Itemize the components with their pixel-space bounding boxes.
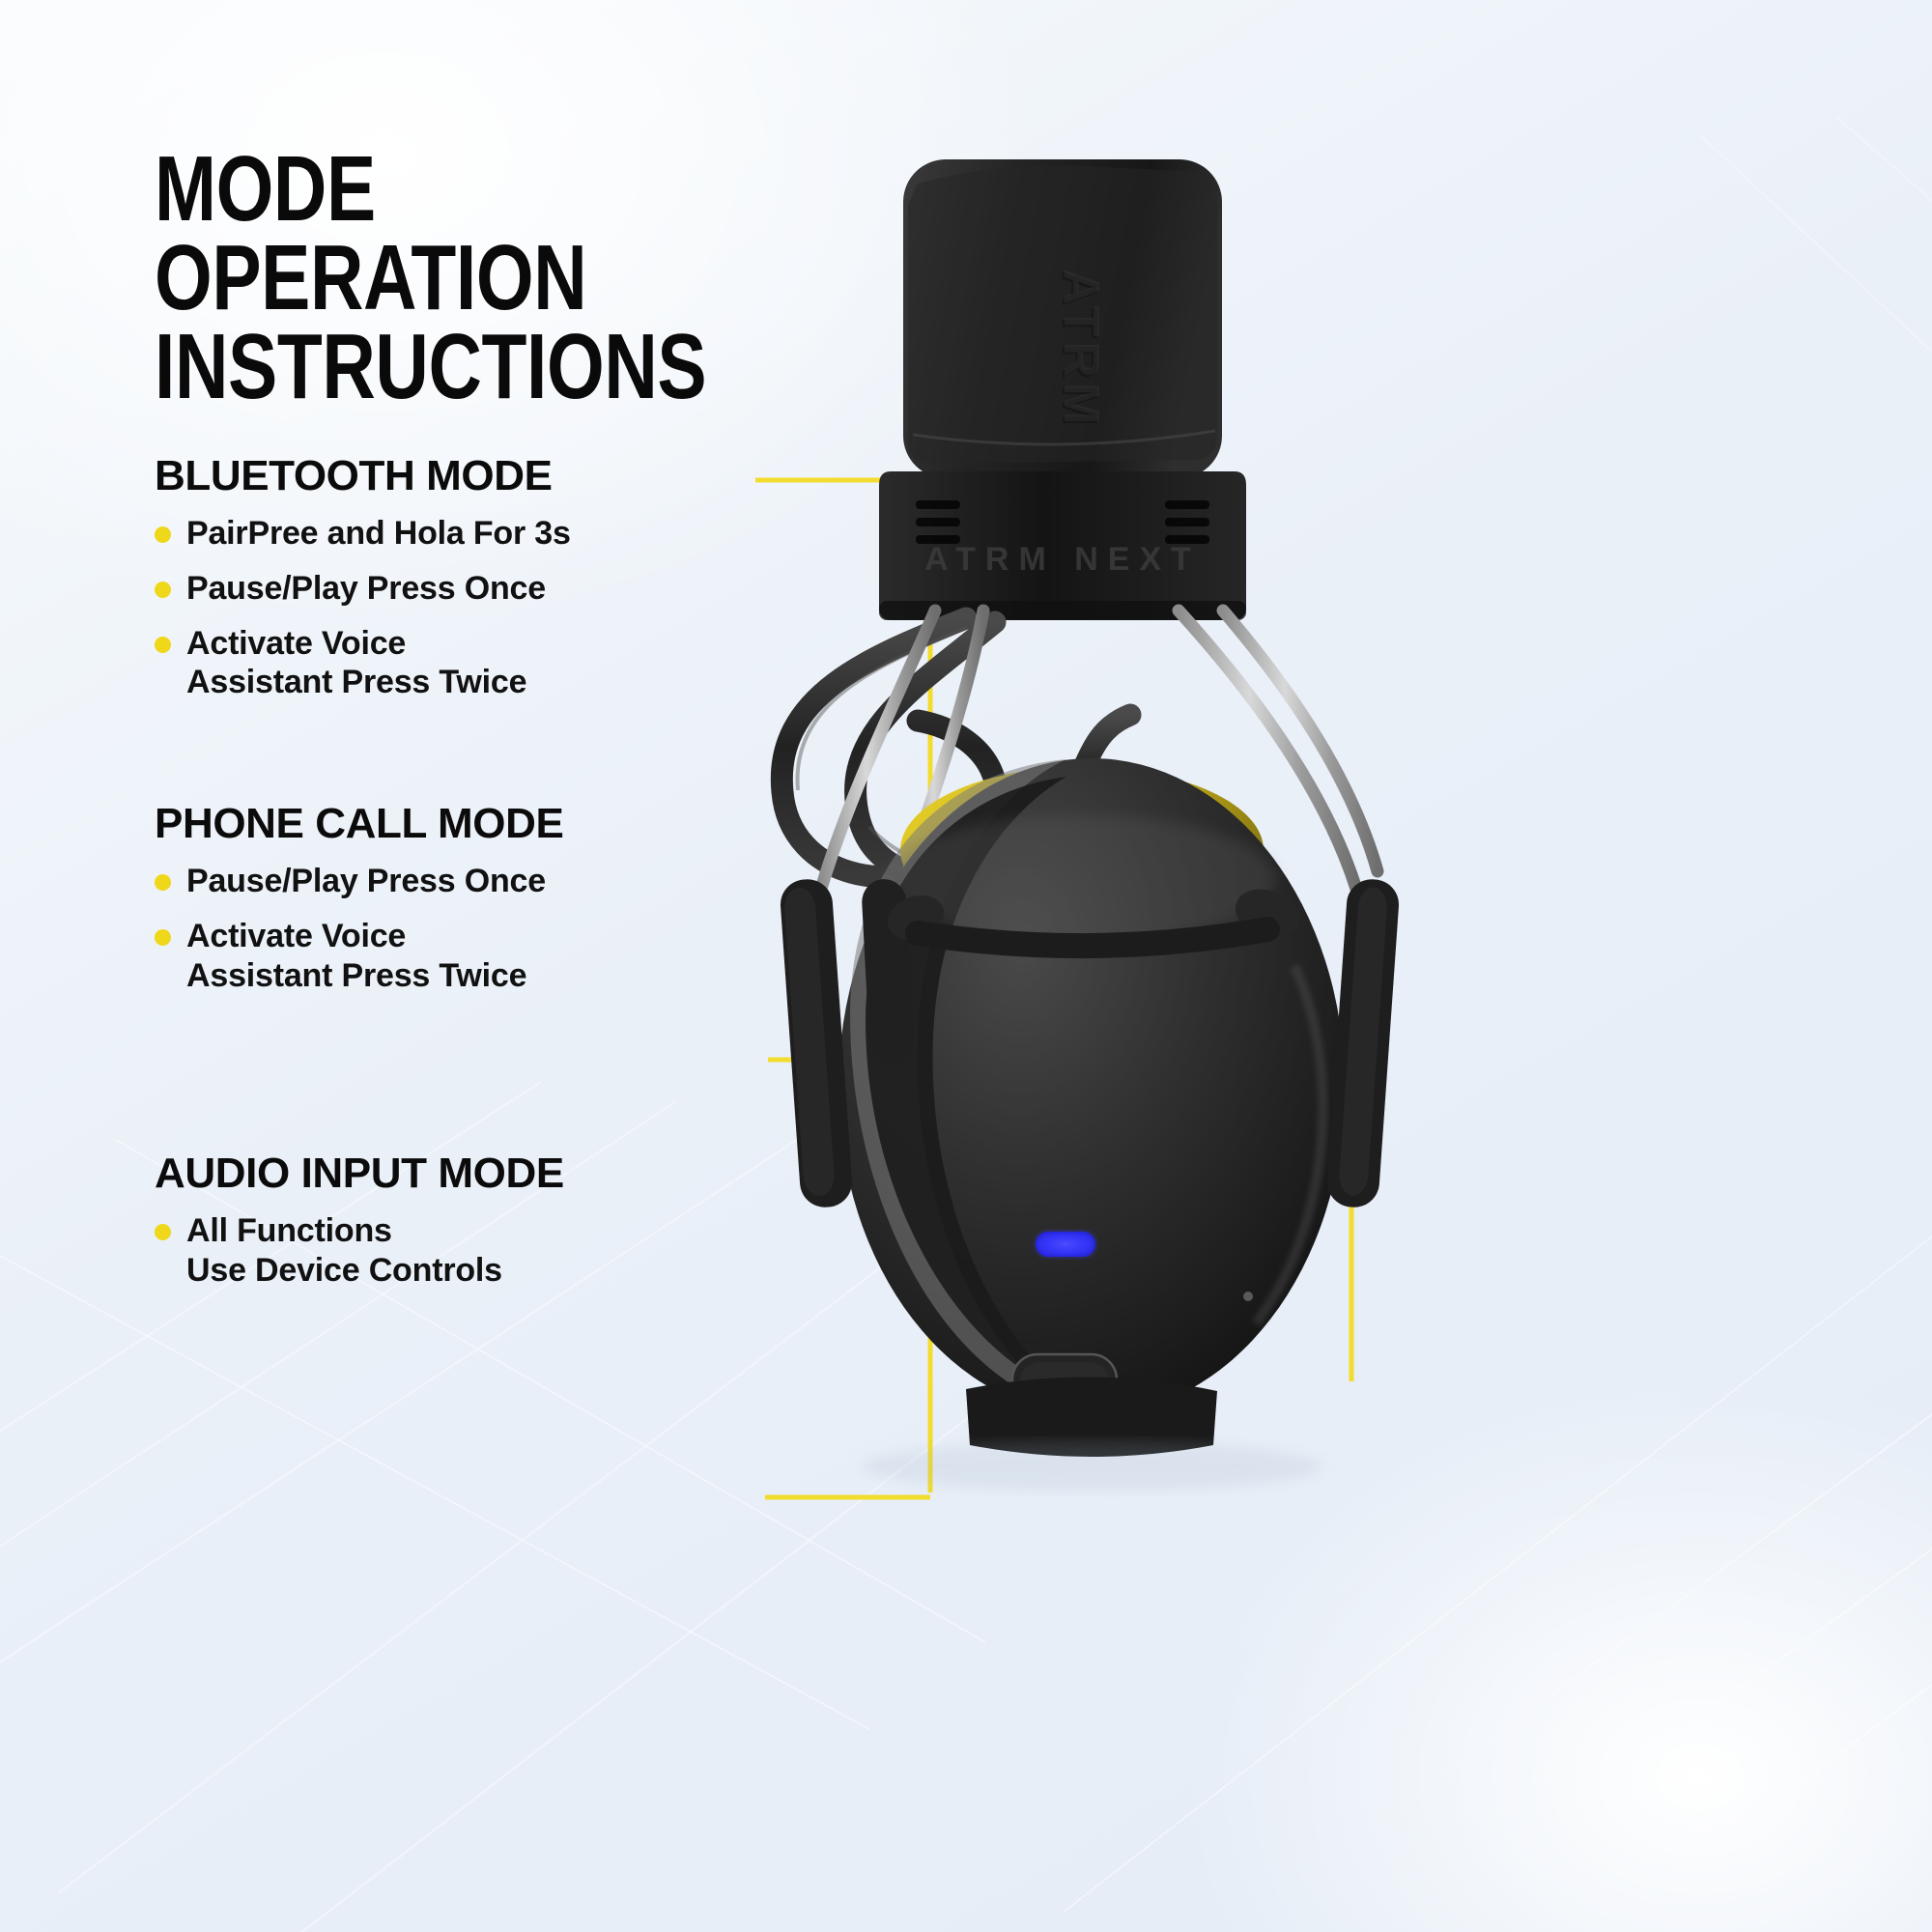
list-item: All Functions Use Device Controls <box>155 1211 564 1291</box>
bullet-text: Activate Voice Assistant Press Twice <box>186 624 526 703</box>
headband-band: ATRM NEXT <box>879 471 1246 620</box>
bullet-text: PairPree and Hola For 3s <box>186 514 571 554</box>
bullet-list-audio-input: All Functions Use Device Controls <box>155 1211 564 1291</box>
bullet-dot-icon <box>155 582 171 598</box>
ear-cup <box>838 758 1345 1457</box>
headband-pad: ATRM ATRM <box>903 159 1222 478</box>
blue-led-indicator <box>1036 1232 1095 1257</box>
bullet-dot-icon <box>155 637 171 653</box>
bullet-text: Pause/Play Press Once <box>186 569 546 609</box>
callout-section-phone-call: PHONE CALL MODE Pause/Play Press Once Ac… <box>155 800 563 995</box>
product-image-earmuff-headset: ATRM ATRM ATRM NEXT <box>676 116 1932 1517</box>
callout-section-bluetooth: BLUETOOTH MODE PairPree and Hola For 3s … <box>155 452 571 702</box>
list-item: Activate Voice Assistant Press Twice <box>155 917 563 996</box>
section-title-bluetooth: BLUETOOTH MODE <box>155 452 571 500</box>
bullet-text: Pause/Play Press Once <box>186 862 546 901</box>
callout-section-audio-input: AUDIO INPUT MODE All Functions Use Devic… <box>155 1150 564 1291</box>
bullet-dot-icon <box>155 526 171 543</box>
svg-text:ATRM: ATRM <box>1053 269 1109 429</box>
bullet-text: All Functions Use Device Controls <box>186 1211 502 1291</box>
bullet-text: Activate Voice Assistant Press Twice <box>186 917 526 996</box>
headband-brand-emboss-band: ATRM NEXT <box>924 541 1201 578</box>
list-item: Pause/Play Press Once <box>155 862 563 901</box>
section-title-audio-input: AUDIO INPUT MODE <box>155 1150 564 1198</box>
list-item: Activate Voice Assistant Press Twice <box>155 624 571 703</box>
bullet-dot-icon <box>155 1224 171 1240</box>
list-item: PairPree and Hola For 3s <box>155 514 571 554</box>
section-title-phone-call: PHONE CALL MODE <box>155 800 563 848</box>
microphone-pinhole <box>1243 1292 1253 1301</box>
bullet-list-phone-call: Pause/Play Press Once Activate Voice Ass… <box>155 862 563 995</box>
bullet-list-bluetooth: PairPree and Hola For 3s Pause/Play Pres… <box>155 514 571 702</box>
bullet-dot-icon <box>155 929 171 946</box>
headband-brand-emboss-top: ATRM ATRM <box>1051 269 1109 431</box>
list-item: Pause/Play Press Once <box>155 569 571 609</box>
bullet-dot-icon <box>155 874 171 891</box>
